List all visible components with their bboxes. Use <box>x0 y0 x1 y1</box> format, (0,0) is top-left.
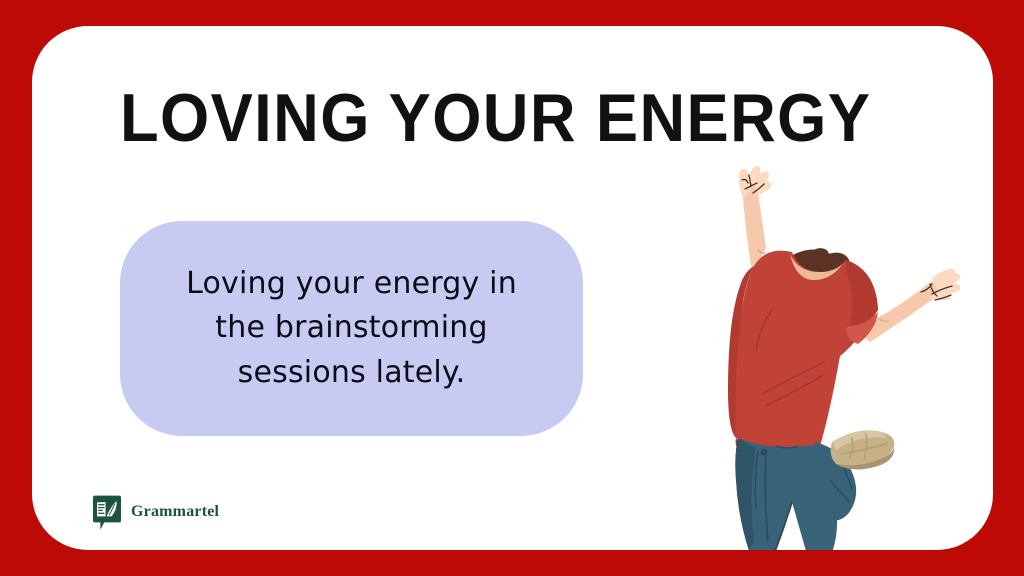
quote-line-2: the brainstorming <box>215 310 487 345</box>
brand-wordmark: Grammartel <box>131 504 219 523</box>
quote-text: Loving your energy inthe brainstormingse… <box>160 262 543 395</box>
slide-card: LOVING YOUR ENERGY Loving your energy in… <box>32 26 993 550</box>
page-title: LOVING YOUR ENERGY <box>120 84 871 152</box>
quote-callout-box: Loving your energy inthe brainstormingse… <box>120 221 583 436</box>
brand-logo[interactable]: Grammartel <box>92 495 219 531</box>
quote-line-1: Loving your energy in <box>186 266 517 301</box>
jeans-button <box>761 449 768 456</box>
quote-line-3: sessions lately. <box>238 355 466 390</box>
jumping-man-illustration <box>680 150 993 550</box>
speech-bubble-book-quill-icon <box>92 495 122 531</box>
slide-canvas: LOVING YOUR ENERGY Loving your energy in… <box>0 0 1024 576</box>
